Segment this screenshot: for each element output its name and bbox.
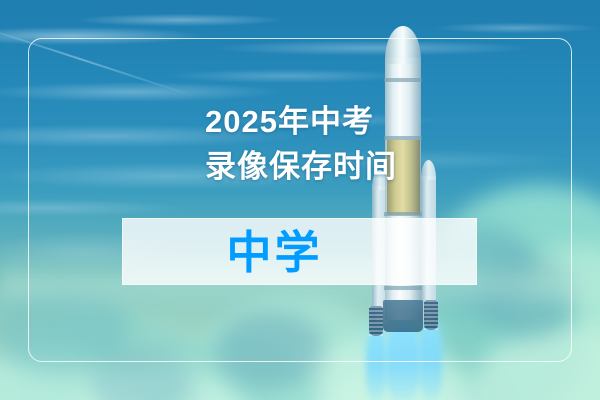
rocket-illustration: [0, 0, 600, 400]
exhaust-plume-main: [386, 326, 420, 400]
banner-title-line-1: 2025年中考: [205, 99, 545, 144]
category-label: 中学: [97, 219, 452, 286]
booster-corrugation-left: [369, 306, 383, 336]
rocket-nose-cone: [385, 26, 421, 64]
banner-title-line-2: 录像保存时间: [205, 144, 545, 189]
category-bar: 中学: [122, 218, 477, 285]
rocket-ring: [384, 212, 422, 216]
rocket-ring: [384, 286, 422, 290]
booster-corrugation-right: [424, 300, 438, 330]
engine-skirt: [383, 300, 423, 332]
banner-title: 2025年中考 录像保存时间: [205, 99, 545, 189]
rocket-ring: [384, 78, 422, 82]
banner-image: 2025年中考 录像保存时间 中学: [0, 0, 600, 400]
exhaust-plume-left: [366, 330, 386, 400]
exhaust-plume-right: [420, 324, 442, 400]
